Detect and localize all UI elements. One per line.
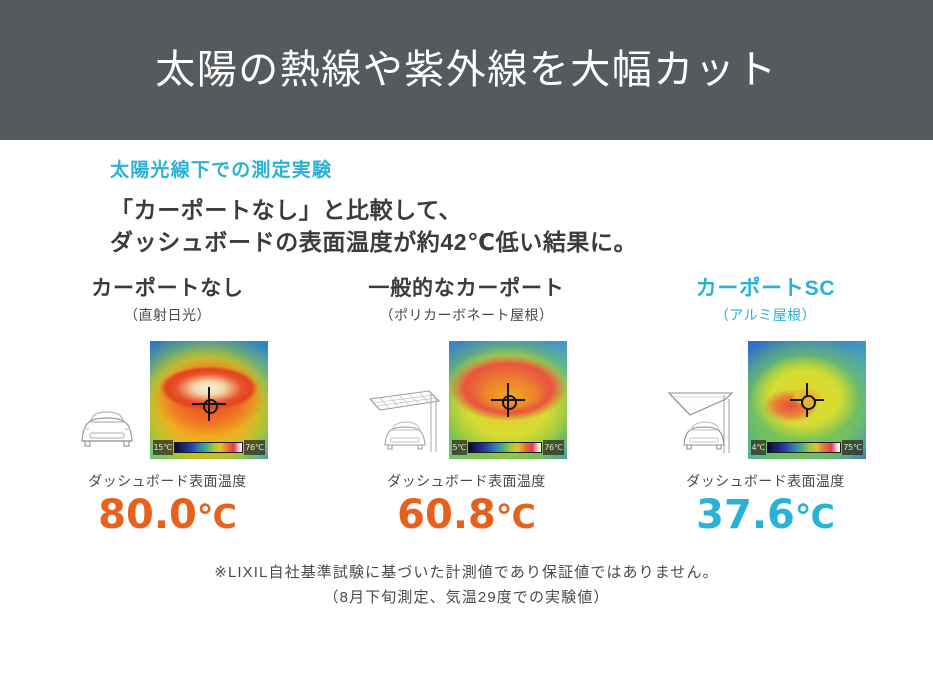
thermal-image-carport-sc: 4℃ 75℃ <box>748 341 866 459</box>
header-banner: 太陽の熱線や紫外線を大幅カット <box>0 0 933 140</box>
scale-gradient <box>468 442 542 453</box>
footnote-line-2: （8月下旬測定、気温29度での実験値） <box>0 586 933 611</box>
scale-min-label: 4℃ <box>751 440 766 455</box>
measurement-crosshair-icon <box>790 383 824 417</box>
column-title: カーポートSC <box>696 277 836 300</box>
scale-max-label: 75℃ <box>842 440 862 455</box>
measurement-crosshair-icon <box>192 387 226 421</box>
readout-number: 60.8 <box>397 492 496 538</box>
column-title: カーポートなし <box>91 277 244 300</box>
footnote: ※LIXIL自社基準試験に基づいた計測値であり保証値ではありません。 （8月下旬… <box>0 561 933 611</box>
scale-gradient <box>174 442 243 453</box>
content-area: 太陽光線下での測定実験 「カーポートなし」と比較して、 ダッシュボードの表面温度… <box>0 140 933 700</box>
lede-line-1: 「カーポートなし」と比較して、 <box>110 194 933 227</box>
measurement-crosshair-icon <box>491 383 525 417</box>
readout-label: ダッシュボード表面温度 <box>88 471 246 491</box>
lede-kicker: 太陽光線下での測定実験 <box>110 160 933 183</box>
thermal-scale-bar: 5℃ 76℃ <box>452 440 564 455</box>
column-subtitle: （アルミ屋根） <box>715 305 816 325</box>
carport-flat-roof-icon <box>367 375 445 459</box>
column-subtitle: （直射日光） <box>124 305 211 325</box>
scale-max-label: 76℃ <box>244 440 264 455</box>
scale-min-label: 15℃ <box>153 440 173 455</box>
readout-value: 60.8℃ <box>387 492 545 539</box>
readout-no-carport: ダッシュボード表面温度 80.0℃ <box>88 471 246 539</box>
page-title: 太陽の熱線や紫外線を大幅カット <box>155 50 778 90</box>
figure-carport-sc: 4℃ 75℃ <box>666 337 866 459</box>
scale-min-label: 5℃ <box>452 440 467 455</box>
carport-sc-roof-icon <box>666 375 744 459</box>
comparison-column-standard-carport: 一般的なカーポート （ポリカーボネート屋根） <box>317 277 616 539</box>
comparison-column-no-carport: カーポートなし （直射日光） <box>18 277 317 539</box>
scale-max-label: 76℃ <box>543 440 563 455</box>
readout-number: 37.6 <box>696 492 795 538</box>
thermal-scale-bar: 15℃ 76℃ <box>153 440 265 455</box>
thermal-image-standard-carport: 5℃ 76℃ <box>449 341 567 459</box>
readout-unit: ℃ <box>496 497 536 536</box>
comparison-columns: カーポートなし （直射日光） <box>0 277 933 539</box>
readout-value: 80.0℃ <box>88 492 246 539</box>
readout-unit: ℃ <box>197 497 237 536</box>
column-subtitle: （ポリカーボネート屋根） <box>380 305 554 325</box>
column-title: 一般的なカーポート <box>368 277 564 300</box>
thermal-image-no-carport: 15℃ 76℃ <box>150 341 268 459</box>
readout-value: 37.6℃ <box>686 492 844 539</box>
readout-unit: ℃ <box>795 497 835 536</box>
readout-number: 80.0 <box>98 492 197 538</box>
lede-line-2: ダッシュボードの表面温度が約42℃低い結果に。 <box>110 226 933 259</box>
comparison-column-carport-sc: カーポートSC （アルミ屋根） <box>616 277 915 539</box>
readout-standard-carport: ダッシュボード表面温度 60.8℃ <box>387 471 545 539</box>
thermal-scale-bar: 4℃ 75℃ <box>751 440 863 455</box>
car-only-icon <box>68 389 146 459</box>
figure-no-carport: 15℃ 76℃ <box>68 337 268 459</box>
footnote-line-1: ※LIXIL自社基準試験に基づいた計測値であり保証値ではありません。 <box>0 561 933 586</box>
scale-gradient <box>767 442 841 453</box>
figure-standard-carport: 5℃ 76℃ <box>367 337 567 459</box>
lede-block: 太陽光線下での測定実験 「カーポートなし」と比較して、 ダッシュボードの表面温度… <box>0 140 933 259</box>
readout-label: ダッシュボード表面温度 <box>387 471 545 491</box>
readout-carport-sc: ダッシュボード表面温度 37.6℃ <box>686 471 844 539</box>
readout-label: ダッシュボード表面温度 <box>686 471 844 491</box>
